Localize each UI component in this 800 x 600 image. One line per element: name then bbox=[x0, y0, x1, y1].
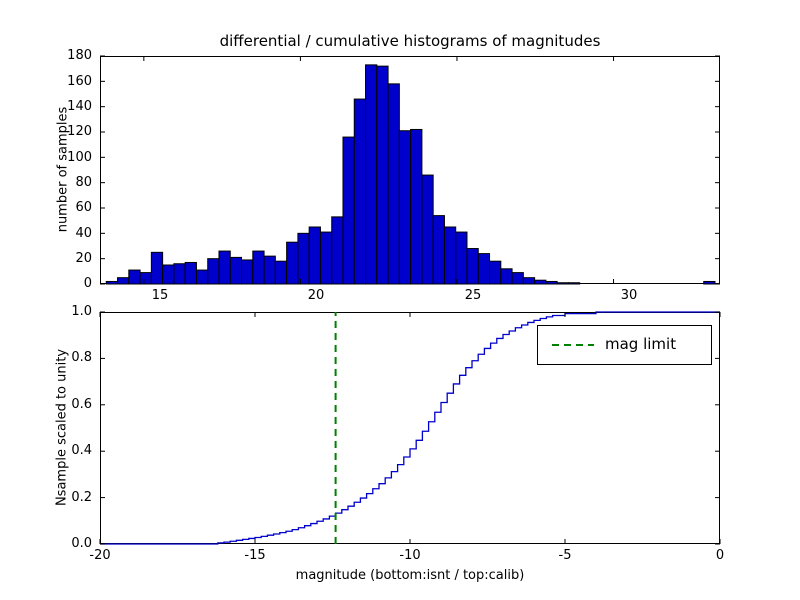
legend-label-mag-limit: mag limit bbox=[605, 335, 676, 353]
legend-swatch-area bbox=[0, 0, 800, 600]
figure-canvas: differential / cumulative histograms of … bbox=[0, 0, 800, 600]
